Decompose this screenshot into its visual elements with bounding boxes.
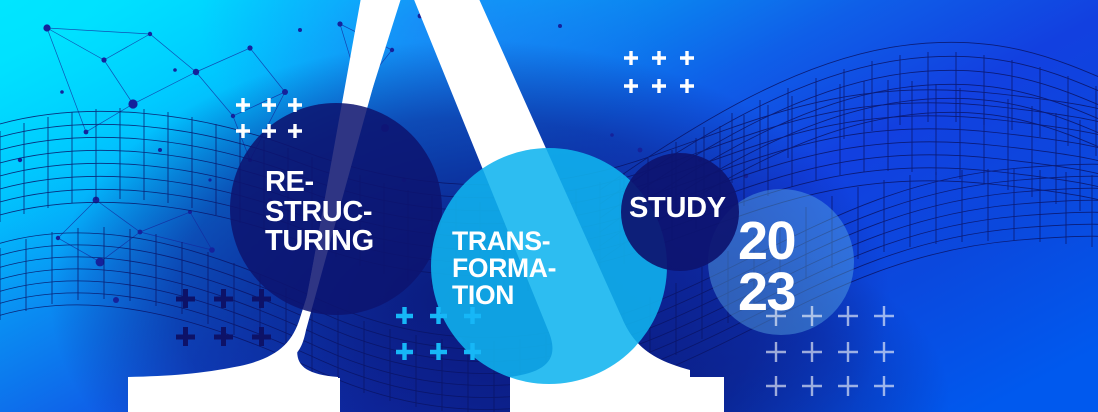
- plus-grid-cyan-lower-mid: [396, 307, 481, 360]
- plus-grid-white-upper-right: [624, 51, 694, 93]
- plus-grid-white-upper-left: [236, 98, 302, 138]
- headline-year: 20 23: [738, 216, 795, 318]
- headline-study: STUDY: [629, 194, 726, 224]
- poster-canvas: RE- STRUC- TURING TRANS- FORMA- TION STU…: [0, 0, 1098, 412]
- plus-grid-navy-lower-left: [176, 289, 271, 346]
- headline-restructuring: RE- STRUC- TURING: [265, 168, 374, 257]
- plus-sign-decorations: [0, 0, 1098, 412]
- headline-transformation: TRANS- FORMA- TION: [452, 228, 556, 309]
